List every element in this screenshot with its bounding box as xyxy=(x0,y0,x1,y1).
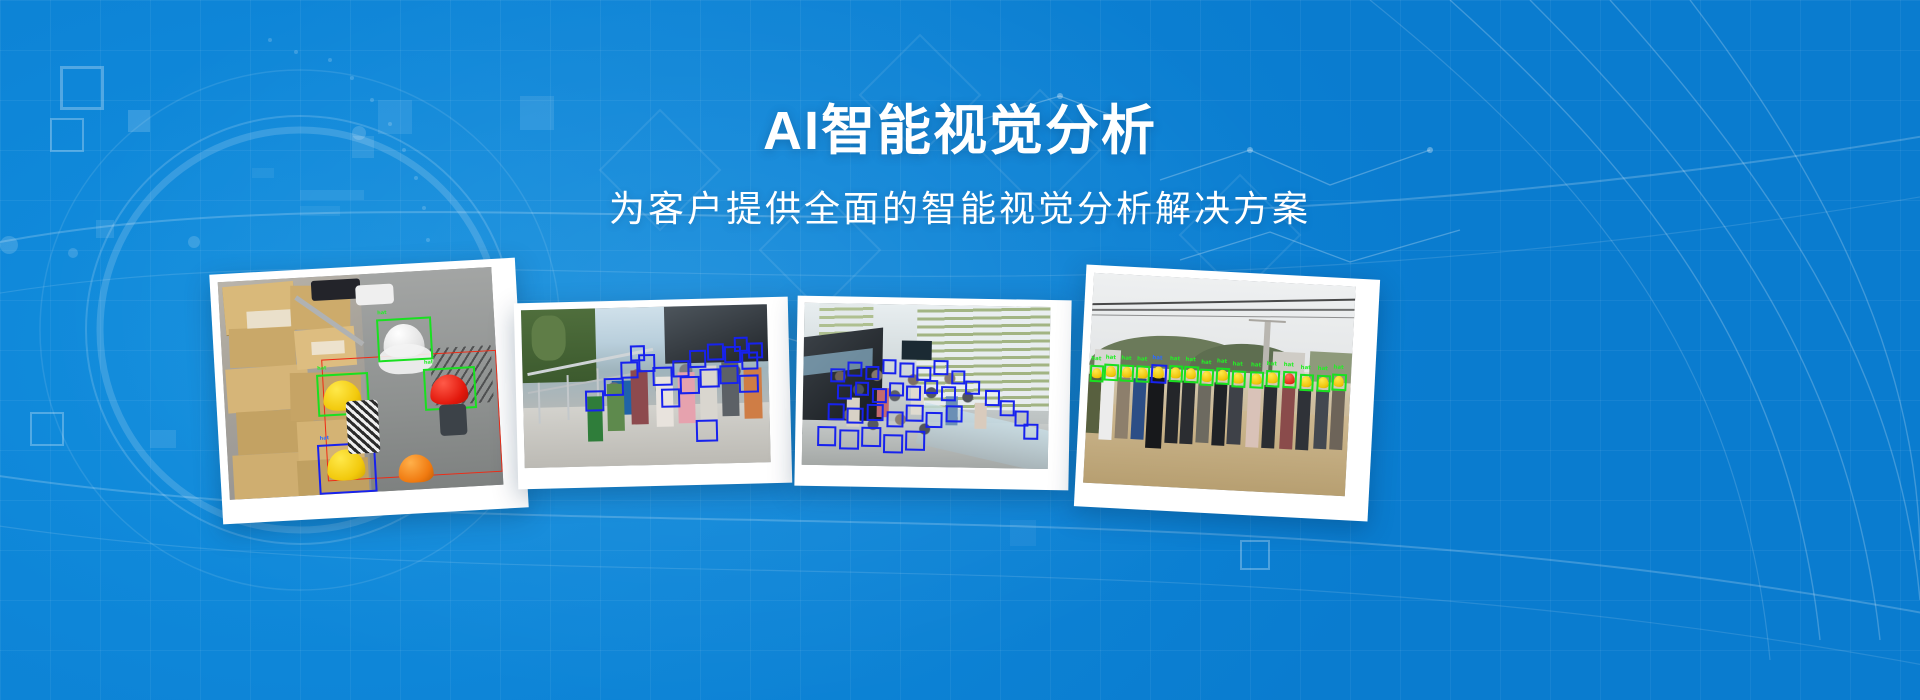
detection-label-hat: hat xyxy=(1251,364,1262,370)
detection-label-hat: hat xyxy=(1170,357,1181,363)
detection-box-hat xyxy=(1249,371,1264,389)
detection-box-person xyxy=(951,370,966,385)
detection-box-person xyxy=(839,430,859,450)
detection-box-person xyxy=(680,375,700,394)
photo-pedestrian-bridge xyxy=(521,304,771,468)
detection-box-hat xyxy=(1089,365,1104,383)
ai-vision-banner: AI智能视觉分析 为客户提供全面的智能视觉分析解决方案 xyxy=(0,0,1920,700)
detection-box-person xyxy=(899,363,914,378)
detection-box-person xyxy=(965,380,980,395)
detection-box-person xyxy=(934,360,949,375)
detection-box-person xyxy=(689,350,707,368)
detection-box-hat xyxy=(1184,366,1199,384)
detection-box-person xyxy=(848,362,863,377)
detection-label-hat: hat xyxy=(1105,356,1116,362)
detection-box-hat xyxy=(1135,366,1150,384)
detection-box-person xyxy=(925,412,942,428)
gallery-item-station-platform-crowd[interactable] xyxy=(794,296,1071,491)
detection-box-person xyxy=(584,390,604,411)
detection-label-hat: hat xyxy=(1232,363,1243,369)
gallery-item-outdoor-hardhat-group[interactable]: hat hat hat hat hat hat xyxy=(1074,264,1380,521)
photo-outdoor-hardhat-group: hat hat hat hat hat hat xyxy=(1083,273,1356,496)
photo-station-platform xyxy=(802,303,1051,469)
detection-box-person xyxy=(719,365,739,384)
detection-box-person xyxy=(861,427,881,447)
detection-box-person xyxy=(945,406,962,422)
detection-label-hat: hat xyxy=(1333,366,1344,372)
detection-label-hat: hat xyxy=(1091,357,1102,363)
detection-box-hat xyxy=(1215,368,1230,386)
detection-box-hat xyxy=(1231,371,1246,389)
detection-box-hat xyxy=(1199,369,1214,387)
detection-box-hat xyxy=(1282,371,1297,389)
detection-label-hat: hat xyxy=(1266,362,1277,368)
detection-box-person xyxy=(882,359,897,374)
detection-label-hat: hat xyxy=(1137,358,1148,364)
detection-box-hat xyxy=(1316,375,1331,393)
photo-warehouse: hat hat hat hat xyxy=(218,267,504,500)
detection-box-person xyxy=(653,367,673,386)
detection-label-hat: hat xyxy=(424,361,434,367)
detection-box-person xyxy=(889,382,904,397)
detection-box-person xyxy=(817,426,837,446)
detection-box-person xyxy=(827,404,844,420)
detection-box-person xyxy=(886,411,903,427)
detection-box-person xyxy=(604,377,624,396)
detection-box-person xyxy=(883,434,903,454)
detection-box-person xyxy=(837,384,852,399)
detection-box-hat xyxy=(1168,365,1183,383)
detection-label-hat: hat xyxy=(1283,363,1294,369)
detection-box-hat xyxy=(1299,374,1314,392)
detection-box-person xyxy=(630,345,645,361)
detection-box-hat xyxy=(1104,364,1119,382)
detection-box-person xyxy=(985,390,1000,406)
detection-box-person xyxy=(872,388,887,403)
detection-box-hat xyxy=(376,316,433,363)
gallery-item-pedestrian-bridge-crowd[interactable] xyxy=(514,297,792,490)
detection-box-person xyxy=(700,369,720,388)
detection-box-person xyxy=(739,374,759,393)
detection-label-hat: hat xyxy=(1201,361,1212,367)
detection-box-hat xyxy=(1265,370,1280,388)
detection-label-hat: hat xyxy=(1217,360,1228,366)
detection-box-person xyxy=(621,361,639,379)
detection-label-hat: hat xyxy=(1185,358,1196,364)
detection-box-person xyxy=(847,407,864,423)
detection-box-person xyxy=(855,381,870,396)
detection-box-person xyxy=(696,419,719,442)
detection-label-hat: hat xyxy=(377,311,387,317)
detection-box-person xyxy=(906,386,921,401)
detection-label-hat: hat xyxy=(1300,366,1311,372)
detection-box-person xyxy=(661,388,681,407)
detection-label-hat: hat xyxy=(1317,367,1328,373)
detection-box-person xyxy=(733,336,748,352)
detection-box-person xyxy=(748,342,763,358)
detection-box-person xyxy=(924,379,939,394)
detection-box-person xyxy=(866,404,883,420)
detection-box-person xyxy=(906,405,923,421)
detection-label-person: hat xyxy=(1152,356,1163,362)
detection-label-hat: hat xyxy=(1121,357,1132,363)
detection-box-person xyxy=(941,386,956,401)
detection-label-person: hat xyxy=(320,437,330,443)
detection-label-hat: hat xyxy=(317,367,327,373)
detection-box-person xyxy=(830,368,845,383)
detection-box-person xyxy=(865,365,880,380)
detection-box-person xyxy=(999,400,1014,416)
detection-box-person xyxy=(905,431,925,451)
detection-box-hat xyxy=(1332,374,1347,392)
gallery-item-warehouse-helmet-detection[interactable]: hat hat hat hat xyxy=(209,258,528,525)
detection-box-person xyxy=(706,343,724,361)
detection-box-hat xyxy=(1120,365,1135,383)
detection-box-person xyxy=(1024,423,1039,439)
photo-gallery: hat hat hat hat xyxy=(0,0,1920,700)
detection-box-person xyxy=(1150,364,1167,384)
